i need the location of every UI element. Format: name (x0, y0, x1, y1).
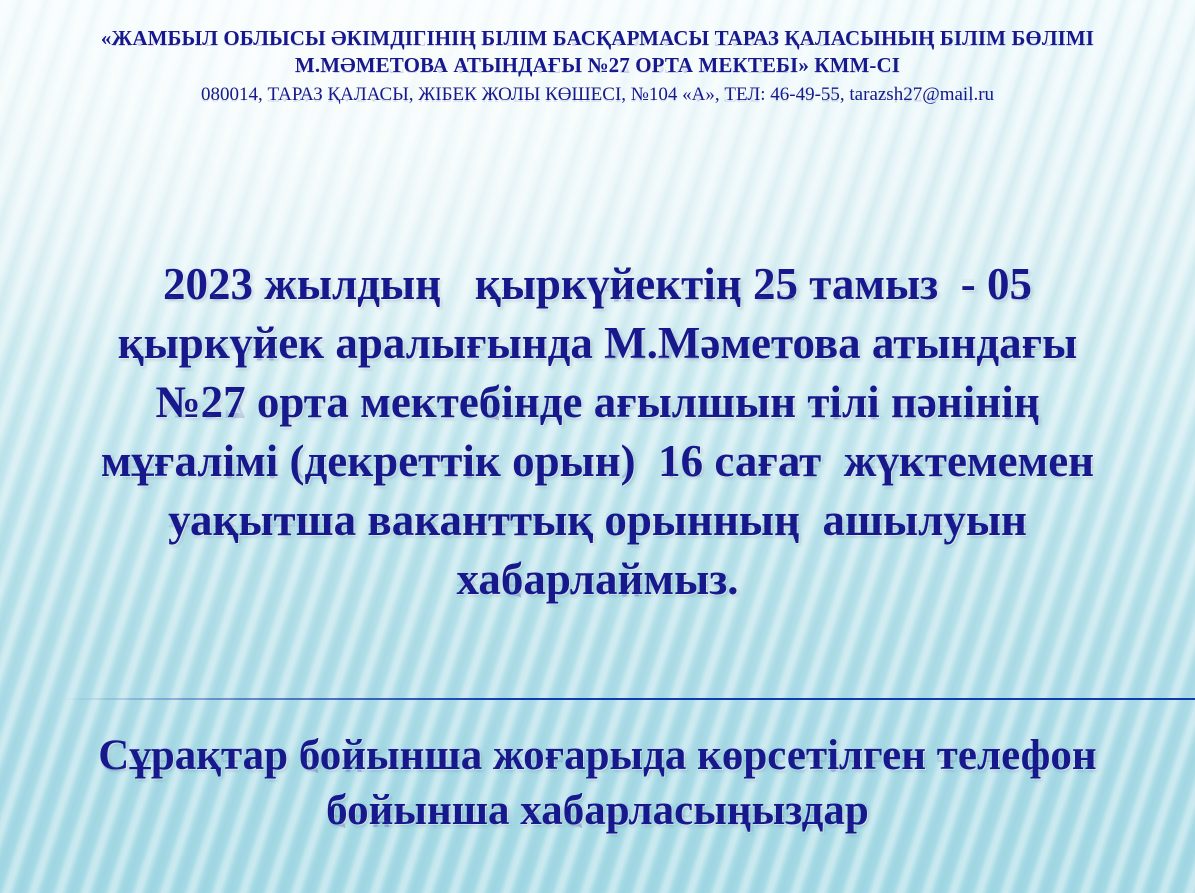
announcement-line: мұғалімі (декреттік орын) 16 сағат жүкте… (14, 439, 1181, 484)
footer-line: Сұрақтар бойынша жоғарыда көрсетілген те… (10, 734, 1185, 777)
announcement-body: 2023 жылдың қыркүйектің 25 тамыз - 05 қы… (14, 262, 1181, 616)
organization-contact-line: 080014, ТАРАЗ ҚАЛАСЫ, ЖІБЕК ЖОЛЫ КӨШЕСІ,… (0, 85, 1195, 104)
slide-footer: Сұрақтар бойынша жоғарыда көрсетілген те… (10, 734, 1185, 844)
organization-name-line-2: М.МӘМЕТОВА АТЫНДАҒЫ №27 ОРТА МЕКТЕБІ» КМ… (0, 55, 1195, 76)
slide-content: «ЖАМБЫЛ ОБЛЫСЫ ӘКІМДІГІНІҢ БІЛІМ БАСҚАРМ… (0, 0, 1195, 893)
slide-header: «ЖАМБЫЛ ОБЛЫСЫ ӘКІМДІГІНІҢ БІЛІМ БАСҚАРМ… (0, 28, 1195, 104)
announcement-line: уақытша ваканттық орынның ашылуын (14, 498, 1181, 543)
announcement-line: №27 орта мектебінде ағылшын тілі пәнінің (14, 380, 1181, 425)
announcement-slide: «ЖАМБЫЛ ОБЛЫСЫ ӘКІМДІГІНІҢ БІЛІМ БАСҚАРМ… (0, 0, 1195, 893)
horizontal-divider (62, 698, 1195, 700)
announcement-line: қыркүйек аралығында М.Мәметова атындағы (14, 321, 1181, 366)
footer-line: бойынша хабарласыңыздар (10, 789, 1185, 832)
announcement-line: хабарлаймыз. (14, 557, 1181, 602)
announcement-line: 2023 жылдың қыркүйектің 25 тамыз - 05 (14, 262, 1181, 307)
organization-name-line-1: «ЖАМБЫЛ ОБЛЫСЫ ӘКІМДІГІНІҢ БІЛІМ БАСҚАРМ… (0, 28, 1195, 49)
